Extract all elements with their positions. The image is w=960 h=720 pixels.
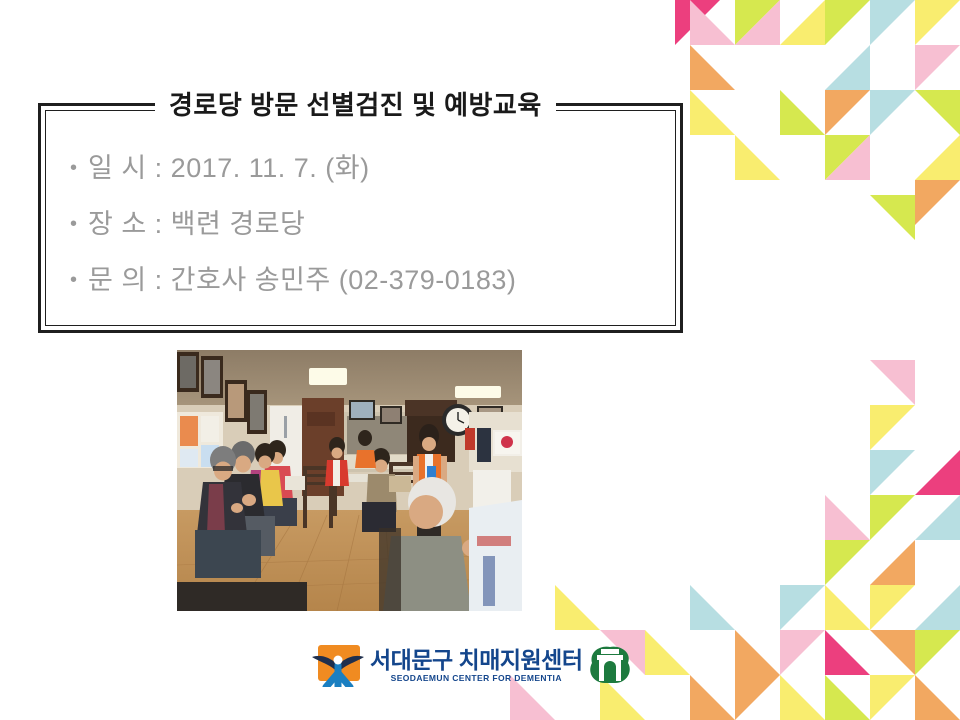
decorative-triangle [690, 45, 735, 90]
decorative-triangle [870, 360, 915, 405]
decorative-triangle [690, 585, 735, 630]
logo-title: 서대문구 치매지원센터 [370, 647, 583, 673]
decorative-triangle [825, 45, 870, 90]
decorative-triangle [915, 135, 960, 180]
info-bullet-list: • 일 시 : 2017. 11. 7. (화) • 장 소 : 백련 경로당 … [70, 148, 670, 316]
decorative-triangle [915, 495, 960, 540]
bullet-text-contact: 문 의 : 간호사 송민주 (02-379-0183) [88, 260, 670, 300]
decorative-triangle [825, 135, 870, 180]
decorative-triangle [915, 450, 960, 495]
decorative-triangle [735, 675, 780, 720]
page-title: 경로당 방문 선별검진 및 예방교육 [155, 88, 556, 122]
bullet-marker-icon: • [70, 204, 88, 244]
decorative-triangle [825, 90, 870, 135]
decorative-triangle [735, 630, 780, 675]
decorative-triangle [870, 495, 915, 540]
decorative-triangle [870, 585, 915, 630]
decorative-triangle [780, 675, 825, 720]
decorative-triangle [825, 675, 870, 720]
decorative-triangle [825, 585, 870, 630]
list-item: • 장 소 : 백련 경로당 [70, 204, 670, 244]
slide-canvas: 경로당 방문 선별검진 및 예방교육 • 일 시 : 2017. 11. 7. … [0, 0, 960, 720]
seodaemun-gu-symbol-icon [312, 643, 364, 687]
event-photo-illustration [177, 350, 522, 611]
decorative-triangle [690, 90, 735, 135]
decorative-triangle [690, 0, 735, 45]
decorative-triangle [735, 0, 780, 45]
decorative-triangle [735, 0, 780, 45]
bullet-marker-icon: • [70, 148, 88, 188]
decorative-triangle [870, 675, 915, 720]
decorative-triangle [915, 45, 960, 90]
decorative-triangle [780, 630, 825, 675]
decorative-triangle [870, 0, 915, 45]
list-item: • 일 시 : 2017. 11. 7. (화) [70, 148, 670, 188]
logo-subtitle: SEODAEMUN CENTER FOR DEMENTIA [370, 673, 583, 684]
decorative-triangle [825, 495, 870, 540]
decorative-triangle [675, 0, 720, 45]
decorative-triangle [915, 630, 960, 675]
decorative-triangle [915, 585, 960, 630]
decorative-triangle [780, 0, 825, 45]
event-photo [177, 350, 522, 611]
organization-logo: 서대문구 치매지원센터 SEODAEMUN CENTER FOR DEMENTI… [312, 639, 652, 691]
decorative-triangle [825, 0, 870, 45]
decorative-triangle [780, 90, 825, 135]
decorative-triangle [870, 90, 915, 135]
decorative-triangle [780, 585, 825, 630]
decorative-triangle [915, 180, 960, 225]
decorative-triangle [870, 405, 915, 450]
decorative-triangle [825, 630, 870, 675]
decorative-triangle [915, 90, 960, 135]
dementia-center-gate-emblem-icon [587, 643, 633, 687]
decorative-triangle [555, 585, 600, 630]
decorative-triangle [870, 195, 915, 240]
list-item: • 문 의 : 간호사 송민주 (02-379-0183) [70, 260, 670, 300]
decorative-triangle [690, 675, 735, 720]
decorative-triangle [915, 675, 960, 720]
logo-text-block: 서대문구 치매지원센터 SEODAEMUN CENTER FOR DEMENTI… [370, 647, 583, 684]
decorative-triangle [870, 450, 915, 495]
bullet-marker-icon: • [70, 260, 88, 300]
decorative-triangle [870, 540, 915, 585]
bullet-text-date: 일 시 : 2017. 11. 7. (화) [88, 148, 670, 188]
decorative-triangle [870, 630, 915, 675]
decorative-triangle [915, 0, 960, 45]
decorative-triangle [825, 135, 870, 180]
decorative-triangle [825, 540, 870, 585]
bullet-text-location: 장 소 : 백련 경로당 [88, 204, 670, 244]
decorative-triangle [735, 135, 780, 180]
